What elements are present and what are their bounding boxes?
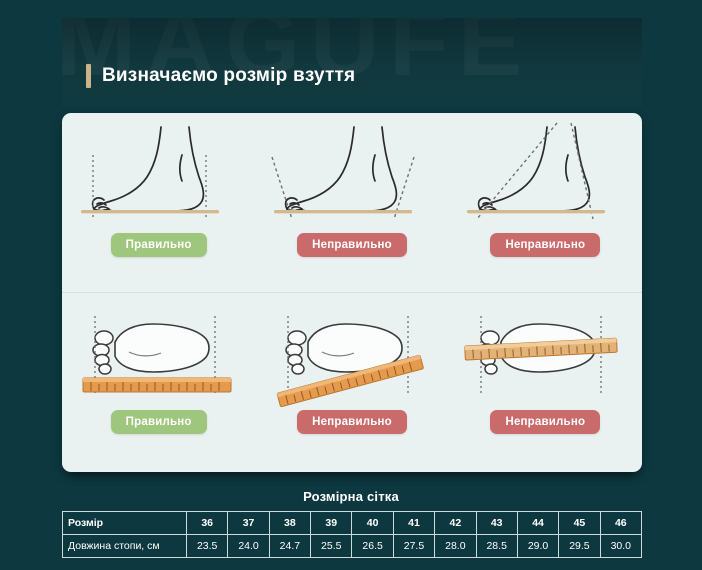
- length-cell: 28.5: [476, 535, 517, 558]
- size-cell: 41: [393, 512, 434, 535]
- figure-cell-side-correct: Правильно: [62, 113, 255, 292]
- length-cell: 29.5: [559, 535, 600, 558]
- table-row-sizes: Розмір 36 37 38 39 40 41 42 43 44 45 46: [63, 512, 642, 535]
- size-cell: 46: [600, 512, 641, 535]
- card-row-side-view: Правильно: [62, 113, 642, 292]
- length-cell: 28.0: [435, 535, 476, 558]
- instruction-card: Правильно: [62, 113, 642, 472]
- foot-sole-ruler-tilted-incorrect-icon: [262, 300, 442, 408]
- badge-incorrect: Неправильно: [490, 410, 600, 434]
- page-root: MAGUFE Визначаємо розмір взуття: [0, 0, 702, 570]
- page-banner: MAGUFE Визначаємо розмір взуття: [62, 18, 642, 107]
- length-cell: 24.0: [228, 535, 269, 558]
- figure-cell-sole-straight: Правильно: [62, 292, 255, 471]
- size-cell: 44: [517, 512, 558, 535]
- size-table: Розмір 36 37 38 39 40 41 42 43 44 45 46 …: [62, 511, 642, 558]
- size-cell: 42: [435, 512, 476, 535]
- title-accent-bar: [86, 64, 91, 88]
- banner-overlay: [62, 18, 642, 107]
- figure-cell-side-slanted: Неправильно: [255, 113, 448, 292]
- foot-sole-ruler-on-top-incorrect-icon: [455, 300, 635, 408]
- length-cell: 26.5: [352, 535, 393, 558]
- table-row-lengths: Довжина стопи, см 23.5 24.0 24.7 25.5 26…: [63, 535, 642, 558]
- badge-incorrect: Неправильно: [297, 410, 407, 434]
- length-cell: 30.0: [600, 535, 641, 558]
- size-cell: 45: [559, 512, 600, 535]
- foot-side-vertical-lines-correct-icon: [69, 121, 249, 231]
- length-cell: 24.7: [269, 535, 310, 558]
- ruler-straight: [83, 378, 231, 392]
- size-cell: 37: [228, 512, 269, 535]
- length-cell: 23.5: [187, 535, 228, 558]
- size-cell: 36: [187, 512, 228, 535]
- size-cell: 39: [311, 512, 352, 535]
- length-cell: 29.0: [517, 535, 558, 558]
- length-cell: 25.5: [311, 535, 352, 558]
- size-cell: 43: [476, 512, 517, 535]
- banner-title-row: Визначаємо розмір взуття: [86, 64, 355, 88]
- figure-cell-side-converging: Неправильно: [449, 113, 642, 292]
- size-cell: 40: [352, 512, 393, 535]
- badge-correct: Правильно: [111, 233, 207, 257]
- size-cell: 38: [269, 512, 310, 535]
- badge-incorrect: Неправильно: [490, 233, 600, 257]
- card-row-top-view: Правильно: [62, 292, 642, 471]
- foot-side-slanted-lines-incorrect-icon: [262, 121, 442, 231]
- page-title: Визначаємо розмір взуття: [102, 65, 355, 87]
- row-label-size: Розмір: [63, 512, 187, 535]
- figure-cell-sole-ruler-on-top: Неправильно: [449, 292, 642, 471]
- figure-cell-sole-tilted: Неправильно: [255, 292, 448, 471]
- row-label-foot-length: Довжина стопи, см: [63, 535, 187, 558]
- badge-correct: Правильно: [111, 410, 207, 434]
- foot-side-converging-lines-incorrect-icon: [455, 121, 635, 231]
- badge-incorrect: Неправильно: [297, 233, 407, 257]
- foot-sole-ruler-straight-correct-icon: [69, 300, 249, 408]
- length-cell: 27.5: [393, 535, 434, 558]
- size-table-title: Розмірна сітка: [0, 489, 702, 504]
